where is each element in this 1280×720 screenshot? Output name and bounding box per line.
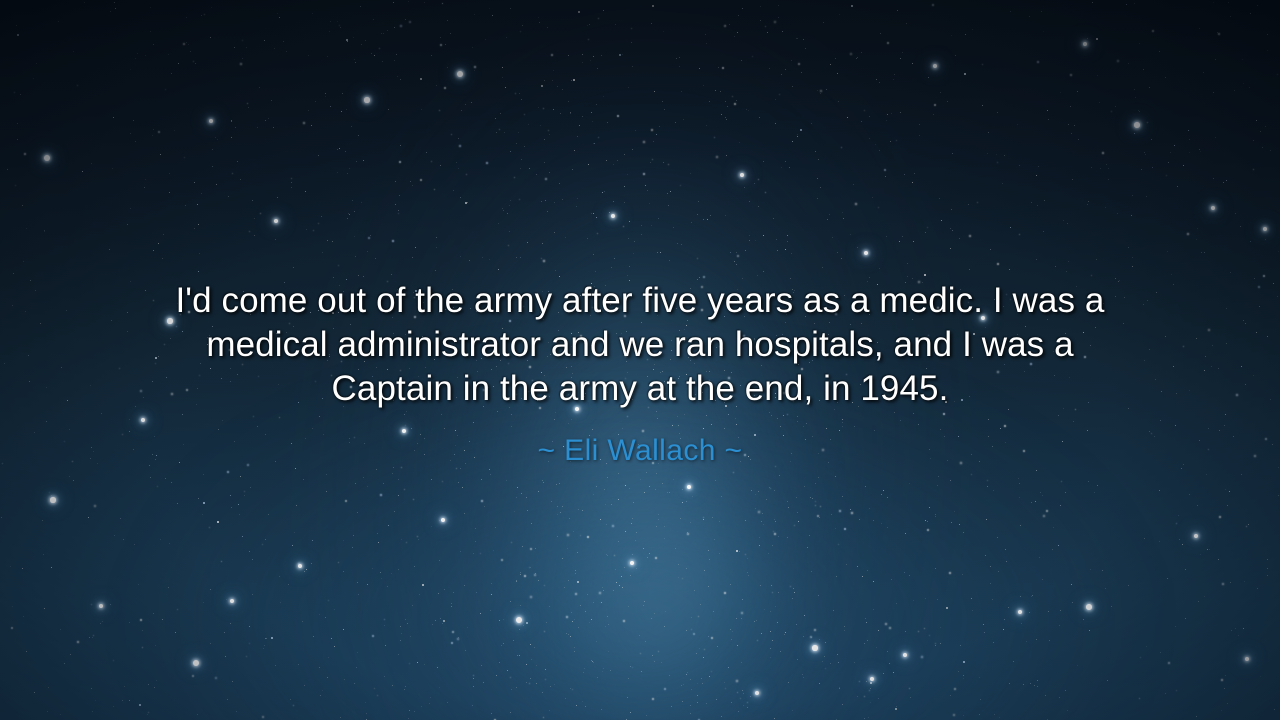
- quote-attribution: ~ Eli Wallach ~: [538, 433, 743, 469]
- quote-text: I'd come out of the army after five year…: [95, 279, 1185, 411]
- quote-content: I'd come out of the army after five year…: [0, 0, 1280, 720]
- quote-card: I'd come out of the army after five year…: [0, 0, 1280, 720]
